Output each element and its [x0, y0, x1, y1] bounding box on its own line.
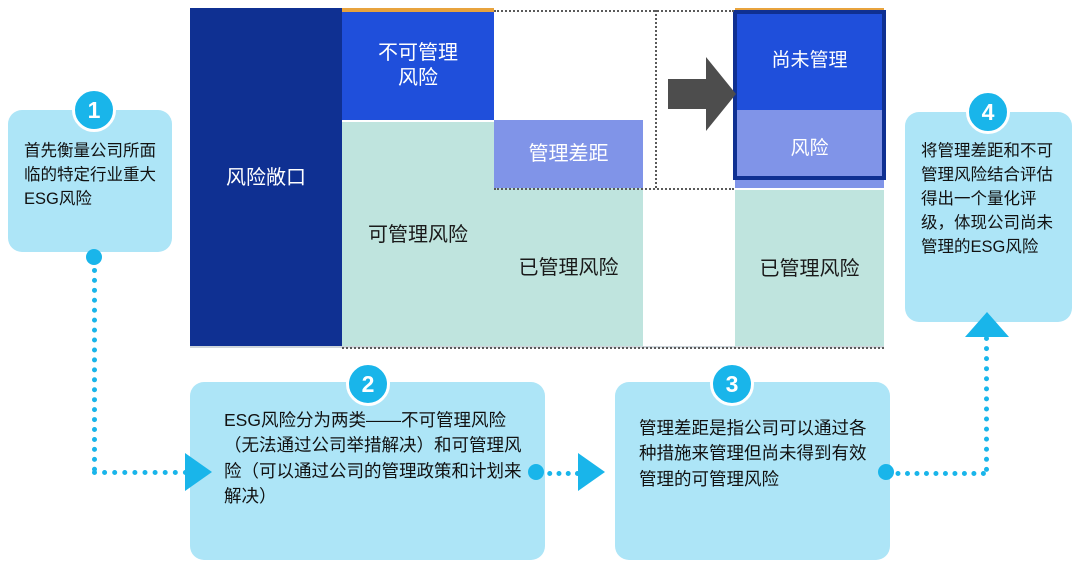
connector-arrow-1 [185, 453, 212, 491]
column-gap: 管理差距 已管理风险 [494, 120, 643, 348]
connector-arrow-2 [578, 453, 605, 491]
badge-step-4: 4 [966, 90, 1010, 134]
transform-arrow-icon [668, 55, 736, 133]
column-exposure: 风险敞口 [190, 8, 342, 348]
column-split: 不可管理 风险 可管理风险 [342, 12, 494, 348]
connector-line-2-horizontal [538, 471, 580, 476]
connector-line-1-horizontal [92, 470, 188, 475]
connector-line-3-vertical [984, 336, 989, 472]
guide-vertical-dotted [655, 10, 657, 188]
guide-bottom-dotted [494, 188, 734, 190]
connector-line-1-vertical [92, 258, 97, 472]
diagram-canvas: 风险敞口 不可管理 风险 可管理风险 管理差距 已管理风险 尚未管理 风险 已管… [0, 0, 1080, 570]
segment-exposure: 风险敞口 [190, 8, 342, 348]
guide-top-dotted [494, 10, 734, 12]
segment-management-gap: 管理差距 [494, 120, 643, 188]
badge-step-2: 2 [346, 362, 390, 406]
segment-managed-risk-a: 已管理风险 [494, 188, 643, 348]
segment-manageable: 可管理风险 [342, 122, 494, 348]
result-highlight-border [733, 10, 886, 180]
connector-arrow-3 [965, 312, 1009, 337]
callout-step-3[interactable]: 管理差距是指公司可以通过各种措施来管理但尚未得到有效管理的可管理风险 [615, 382, 890, 560]
badge-step-3: 3 [710, 362, 754, 406]
callout-step-4[interactable]: 将管理差距和不可管理风险结合评估得出一个量化评级，体现公司尚未管理的ESG风险 [905, 112, 1072, 322]
guide-baseline-dotted [342, 347, 884, 349]
connector-line-3-horizontal [886, 471, 986, 476]
segment-managed-risk-b: 已管理风险 [735, 190, 884, 348]
badge-step-1: 1 [72, 88, 116, 132]
segment-unmanageable: 不可管理 风险 [342, 12, 494, 120]
callout-step-2[interactable]: ESG风险分为两类——不可管理风险（无法通过公司举措解决）和可管理风险（可以通过… [190, 382, 545, 560]
